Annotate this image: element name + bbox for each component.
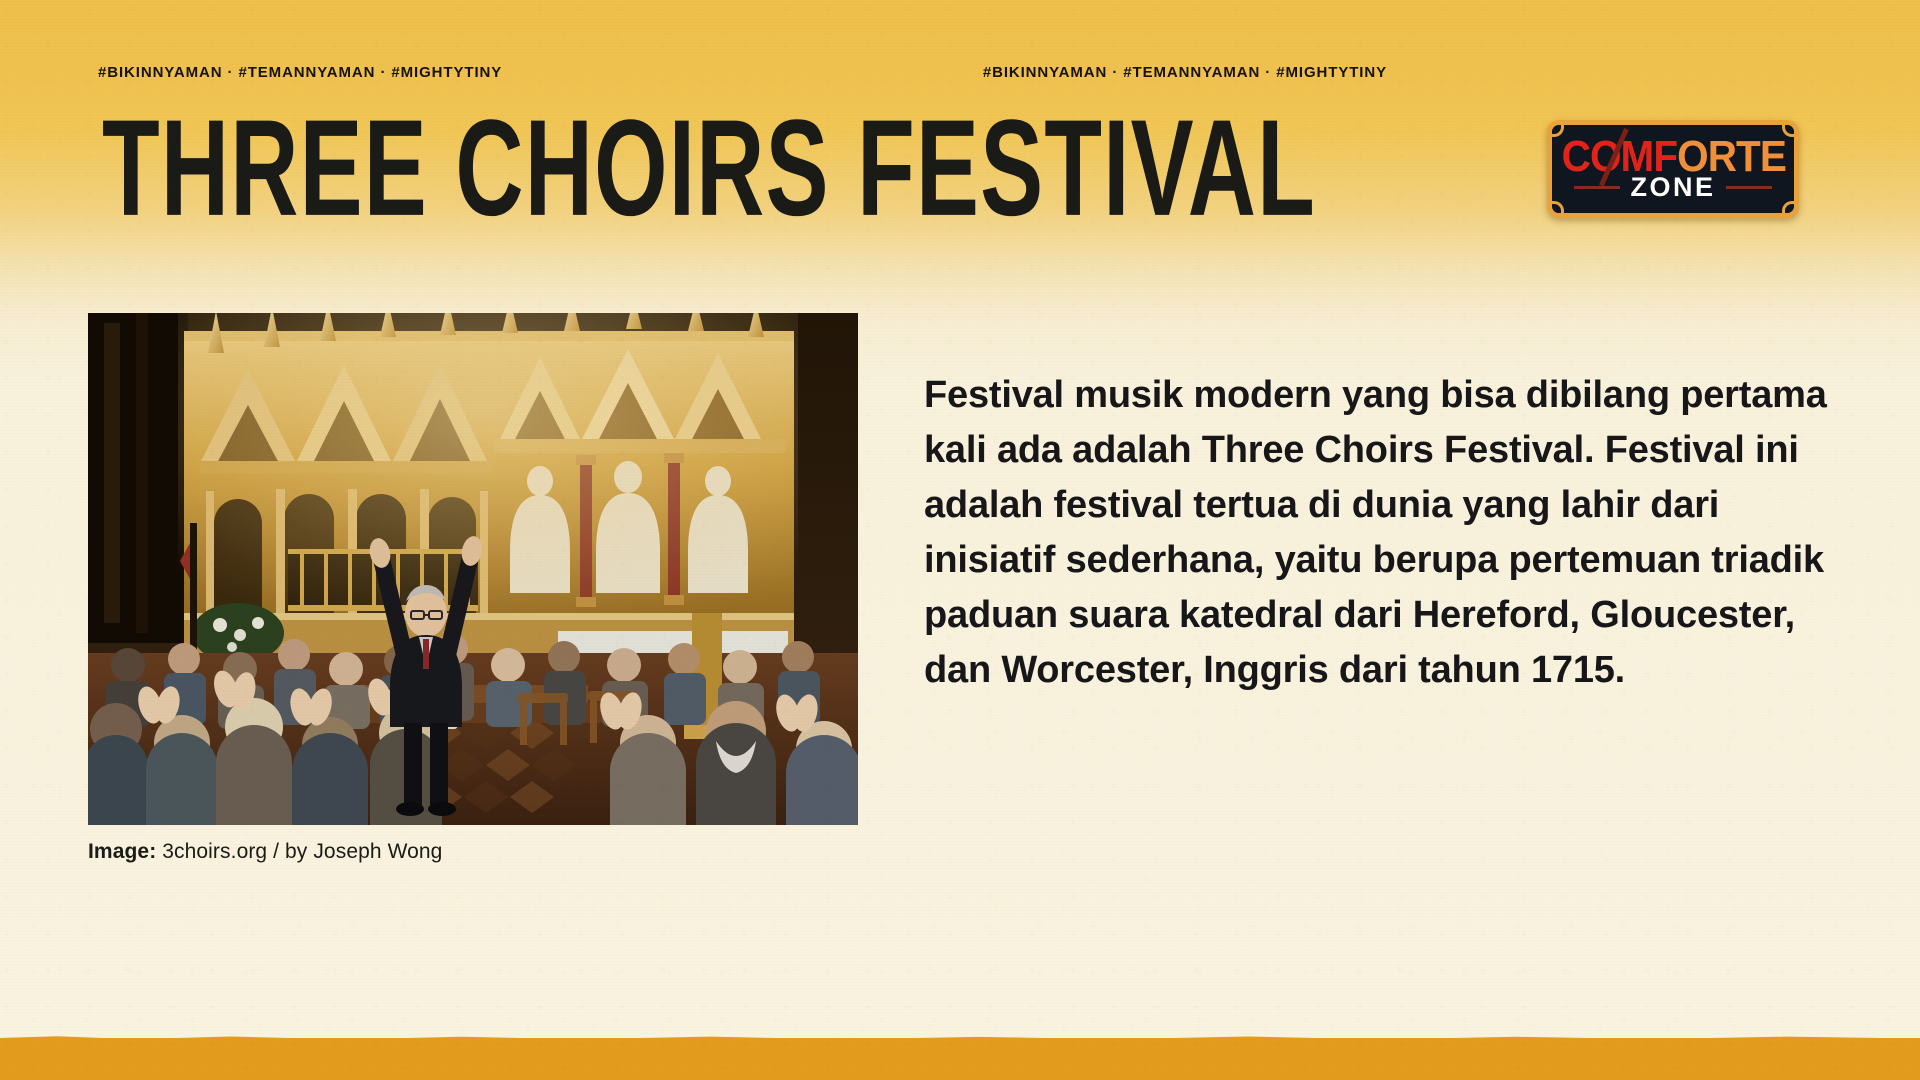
hashtags-left: #BIKINNYAMAN · #TEMANNYAMAN · #MIGHTYTIN… <box>98 64 502 81</box>
page-title: THREE CHOIRS FESTIVAL <box>102 100 1316 237</box>
body-paragraph: Festival musik modern yang bisa dibilang… <box>924 368 1834 698</box>
logo-rule-left <box>1574 186 1620 189</box>
logo-corner-notch-bottom-right <box>1782 201 1797 216</box>
logo-subtitle-row: ZONE <box>1552 174 1794 201</box>
slide-canvas: #BIKINNYAMAN · #TEMANNYAMAN · #MIGHTYTIN… <box>0 0 1920 1080</box>
logo-rule-right <box>1726 186 1772 189</box>
comforte-zone-logo: COMFORTE ZONE <box>1547 120 1799 218</box>
photo-caption: Image: 3choirs.org / by Joseph Wong <box>88 840 442 864</box>
hashtags-right: #BIKINNYAMAN · #TEMANNYAMAN · #MIGHTYTIN… <box>983 64 1387 81</box>
festival-photo <box>88 313 858 825</box>
bottom-accent-bar <box>0 1038 1920 1080</box>
logo-corner-notch-bottom-left <box>1549 201 1564 216</box>
photo-caption-label: Image: <box>88 840 156 863</box>
logo-subtitle: ZONE <box>1630 174 1715 201</box>
photo-caption-source: 3choirs.org / by Joseph Wong <box>162 840 442 863</box>
